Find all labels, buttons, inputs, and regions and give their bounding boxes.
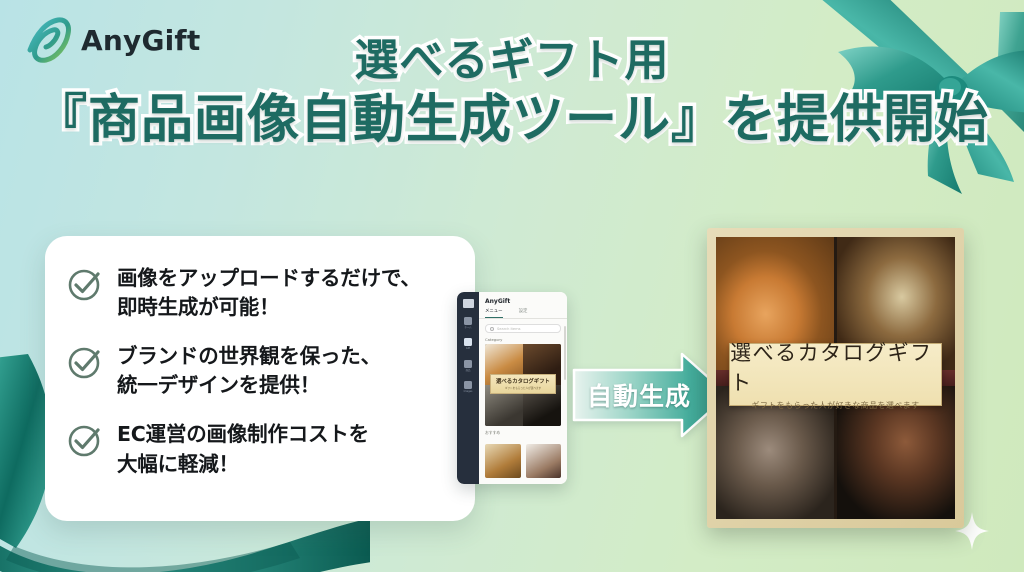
- feature-text-line1: ブランドの世界観を保った、: [117, 342, 381, 371]
- search-placeholder: Search items: [497, 327, 520, 331]
- feature-text: ブランドの世界観を保った、 統一デザインを提供！: [117, 342, 381, 400]
- brand-name: AnyGift: [81, 24, 200, 57]
- tab-settings[interactable]: 設定: [519, 308, 528, 318]
- mockup-section-label: Category: [479, 337, 567, 344]
- anygift-leaf-logo-icon: [26, 16, 72, 64]
- mockup-tabs: メニュー 設定: [479, 308, 567, 319]
- sidebar-item-dashboard[interactable]: ホーム: [464, 317, 472, 329]
- feature-text-line2: 統一デザインを提供！: [117, 371, 381, 400]
- feature-text-line1: EC運営の画像制作コストを: [117, 420, 369, 449]
- catalog-title: 選べるカタログギフト: [730, 337, 941, 397]
- hero-title: 選べるカタログギフト: [496, 377, 550, 385]
- dashboard-icon: [464, 317, 472, 325]
- sidebar-item-images[interactable]: Images: [464, 381, 473, 393]
- mockup-sidebar: ホーム Gift 商品 Images: [457, 292, 479, 484]
- hero-caption-band: 選べるカタログギフト ギフトをもらった人が選べます: [490, 374, 557, 394]
- check-circle-icon: [67, 344, 103, 380]
- sidebar-item-products[interactable]: 商品: [464, 360, 472, 372]
- check-circle-icon: [67, 266, 103, 302]
- mockup-grid-label: おすすめ: [479, 426, 567, 438]
- search-input[interactable]: Search items: [485, 324, 561, 333]
- feature-text-line2: 大幅に軽減！: [117, 450, 369, 479]
- sidebar-item-label: Gift: [466, 348, 470, 350]
- sidebar-item-label: Images: [464, 391, 473, 393]
- catalog-preview-card: 選べるカタログギフト ギフトをもらった人が好きな商品を選べます: [707, 228, 964, 528]
- mockup-hero-image[interactable]: 選べるカタログギフト ギフトをもらった人が選べます: [485, 344, 561, 426]
- thumbnail-item[interactable]: [485, 444, 521, 478]
- sidebar-item-label: ホーム: [464, 327, 471, 329]
- mockup-content: AnyGift メニュー 設定 Search items Category 選べ…: [479, 292, 567, 484]
- feature-item: ブランドの世界観を保った、 統一デザインを提供！: [67, 342, 453, 400]
- feature-card: 画像をアップロードするだけで、 即時生成が可能！ ブランドの世界観を保った、 統…: [45, 236, 475, 521]
- search-icon: [490, 327, 494, 331]
- hero-subtitle: ギフトをもらった人が選べます: [505, 386, 541, 390]
- sidebar-item-label: 商品: [466, 370, 471, 372]
- scrollbar[interactable]: [564, 326, 566, 380]
- headline-line-2: 『商品画像自動生成ツール』を提供開始: [0, 93, 1024, 148]
- catalog-caption-band: 選べるカタログギフト ギフトをもらった人が好きな商品を選べます: [729, 343, 942, 406]
- feature-item: EC運営の画像制作コストを 大幅に軽減！: [67, 420, 453, 478]
- thumbnail-item[interactable]: [526, 444, 562, 478]
- mockup-thumbnail-grid: [485, 444, 561, 478]
- brand-logo[interactable]: AnyGift: [26, 16, 200, 64]
- app-mockup: ホーム Gift 商品 Images AnyGift メニュー 設定 Searc…: [457, 292, 567, 484]
- app-logo-icon: [463, 299, 474, 308]
- image-icon: [464, 381, 472, 389]
- check-circle-icon: [67, 422, 103, 458]
- catalog-photo-collage: 選べるカタログギフト ギフトをもらった人が好きな商品を選べます: [716, 237, 955, 519]
- feature-text: EC運営の画像制作コストを 大幅に軽減！: [117, 420, 369, 478]
- tag-icon: [464, 360, 472, 368]
- sidebar-item-gift[interactable]: Gift: [464, 338, 472, 350]
- feature-text-line2: 即時生成が可能！: [117, 293, 421, 322]
- tab-menu[interactable]: メニュー: [485, 308, 503, 318]
- feature-text: 画像をアップロードするだけで、 即時生成が可能！: [117, 264, 421, 322]
- feature-text-line1: 画像をアップロードするだけで、: [117, 264, 421, 293]
- feature-item: 画像をアップロードするだけで、 即時生成が可能！: [67, 264, 453, 322]
- pin-icon: [464, 338, 472, 346]
- mockup-app-title: AnyGift: [479, 292, 567, 308]
- catalog-subtitle: ギフトをもらった人が好きな商品を選べます: [751, 400, 919, 411]
- ribbon-bow-decoration: [800, 0, 1024, 216]
